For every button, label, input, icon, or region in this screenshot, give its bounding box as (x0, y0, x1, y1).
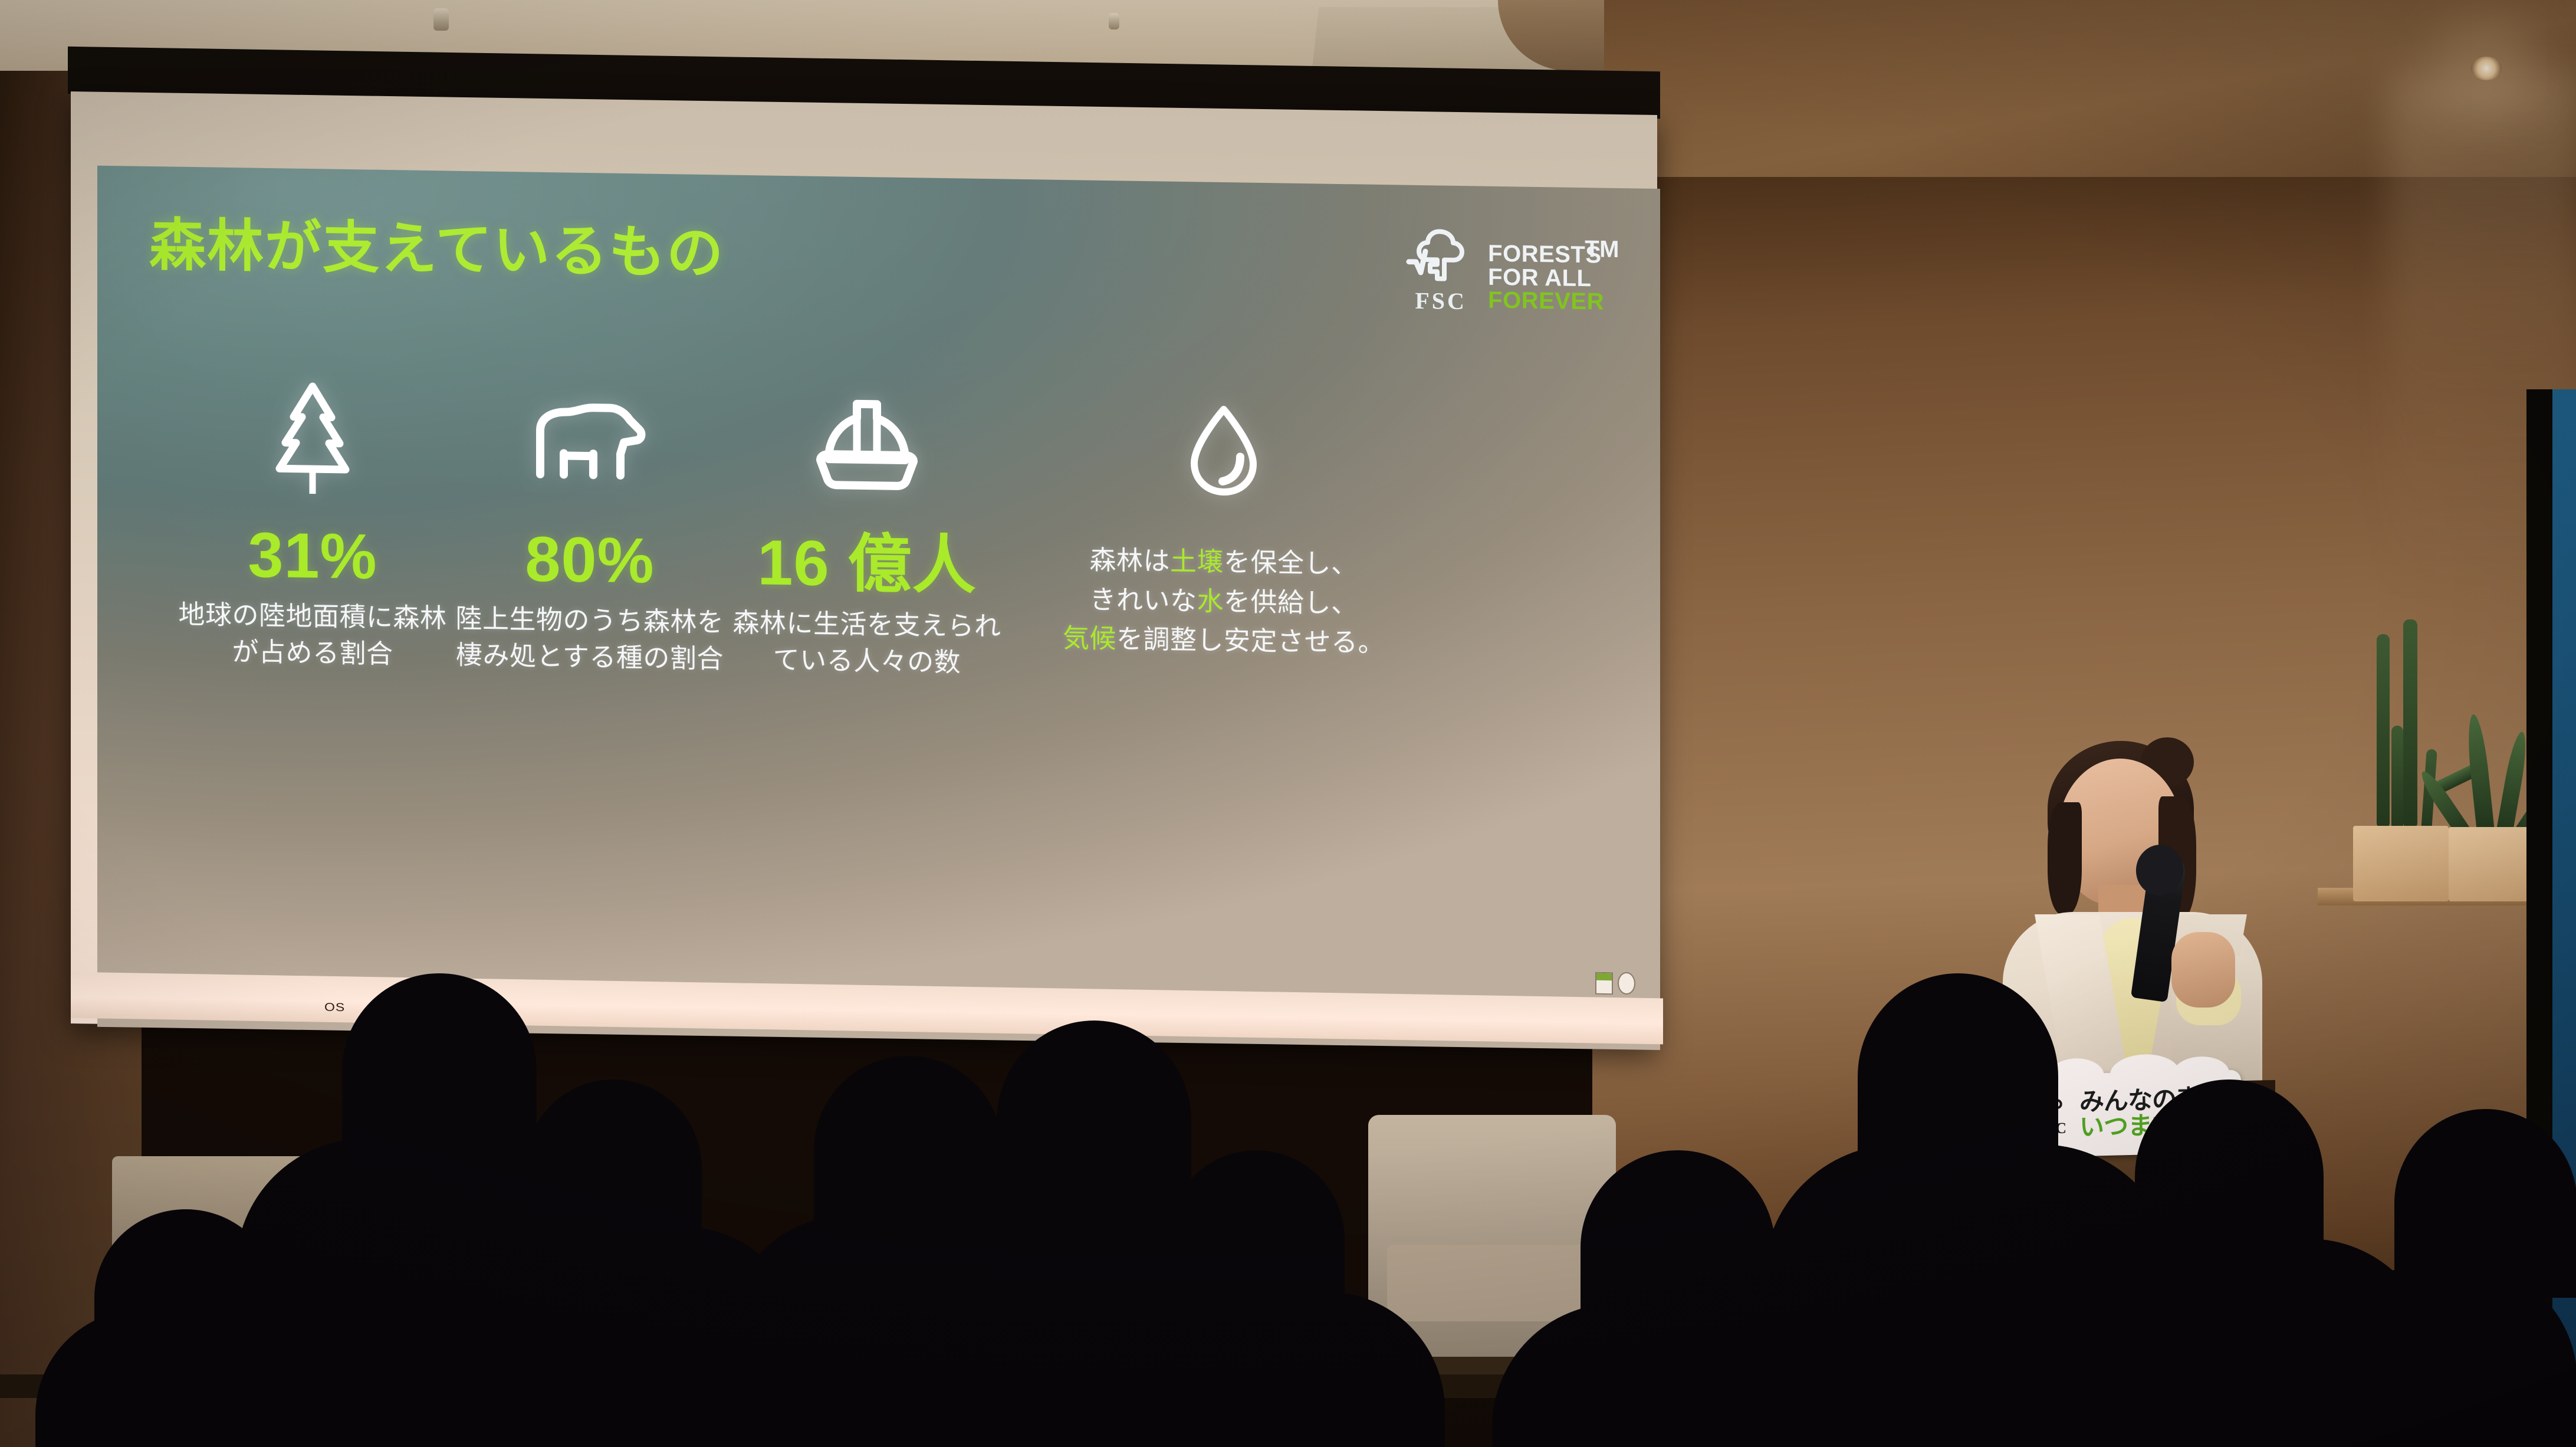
eco-description: 森林は土壌を保全し、 きれいな水を供給し、 気候を調整し安定させる。 (1041, 540, 1407, 663)
eco-highlight-water: 水 (1197, 586, 1224, 616)
room-scene: 森林が支えているもの FSC FORESTS FOR ALL FOREVER (0, 0, 2576, 1447)
stat-column: 16 億人 森林に生活を支えられている人々の数 (728, 385, 1006, 682)
downlight-icon (2471, 57, 2502, 80)
screen-brand-label: OS (324, 1000, 345, 1015)
eco-column: 森林は土壌を保全し、 きれいな水を供給し、 気候を調整し安定させる。 (1041, 389, 1407, 663)
screen-sticker (1618, 972, 1635, 995)
stat-description: 陸上生物のうち森林を棲み処とする種の割合 (451, 600, 728, 677)
screen-sticker (1595, 972, 1613, 995)
stat-column: 80% 陸上生物のうち森林を棲み処とする種の割合 (451, 380, 728, 678)
presenter-hand (2171, 932, 2235, 1008)
stat-description: 地球の陸地面積に森林が占める割合 (174, 596, 451, 673)
cactus-plant (2403, 619, 2417, 829)
screen-surface: 森林が支えているもの FSC FORESTS FOR ALL FOREVER (71, 91, 1657, 1047)
hard-hat-icon (728, 385, 1006, 507)
presentation-slide: 森林が支えているもの FSC FORESTS FOR ALL FOREVER (97, 166, 1660, 1050)
eco-line1-post: を保全し、 (1224, 547, 1358, 579)
eco-line2-post: を供給し、 (1224, 586, 1358, 618)
stat-description: 森林に生活を支えられている人々の数 (728, 604, 1006, 681)
tree-icon (174, 376, 451, 498)
eco-highlight-climate: 気候 (1063, 623, 1116, 654)
cactus-plant (2391, 726, 2403, 831)
bear-icon (451, 380, 728, 503)
eco-line3-post: を調整し安定させる。 (1116, 624, 1385, 658)
sofa-cushion (1387, 1245, 1597, 1321)
audience-shoulders (1091, 1292, 1445, 1447)
stat-columns: 31% 地球の陸地面積に森林が占める割合 (97, 166, 1660, 1050)
stat-value: 16 億人 (728, 527, 1006, 602)
sprinkler-icon (433, 8, 449, 31)
eco-line2-pre: きれいな (1089, 584, 1197, 616)
sprinkler-icon (1109, 13, 1119, 29)
stat-value: 31% (174, 519, 451, 593)
plant-pot (2353, 826, 2449, 901)
eco-line1-pre: 森林は (1089, 545, 1170, 576)
stat-column: 31% 地球の陸地面積に森林が占める割合 (174, 376, 451, 674)
eco-highlight-soil: 土壌 (1170, 546, 1224, 577)
water-drop-icon (1041, 389, 1407, 512)
cactus-plant (2377, 634, 2390, 829)
stat-value: 80% (451, 523, 728, 598)
projection-screen: 森林が支えているもの FSC FORESTS FOR ALL FOREVER (56, 47, 1684, 1062)
presenter-hair-side (2048, 802, 2082, 914)
